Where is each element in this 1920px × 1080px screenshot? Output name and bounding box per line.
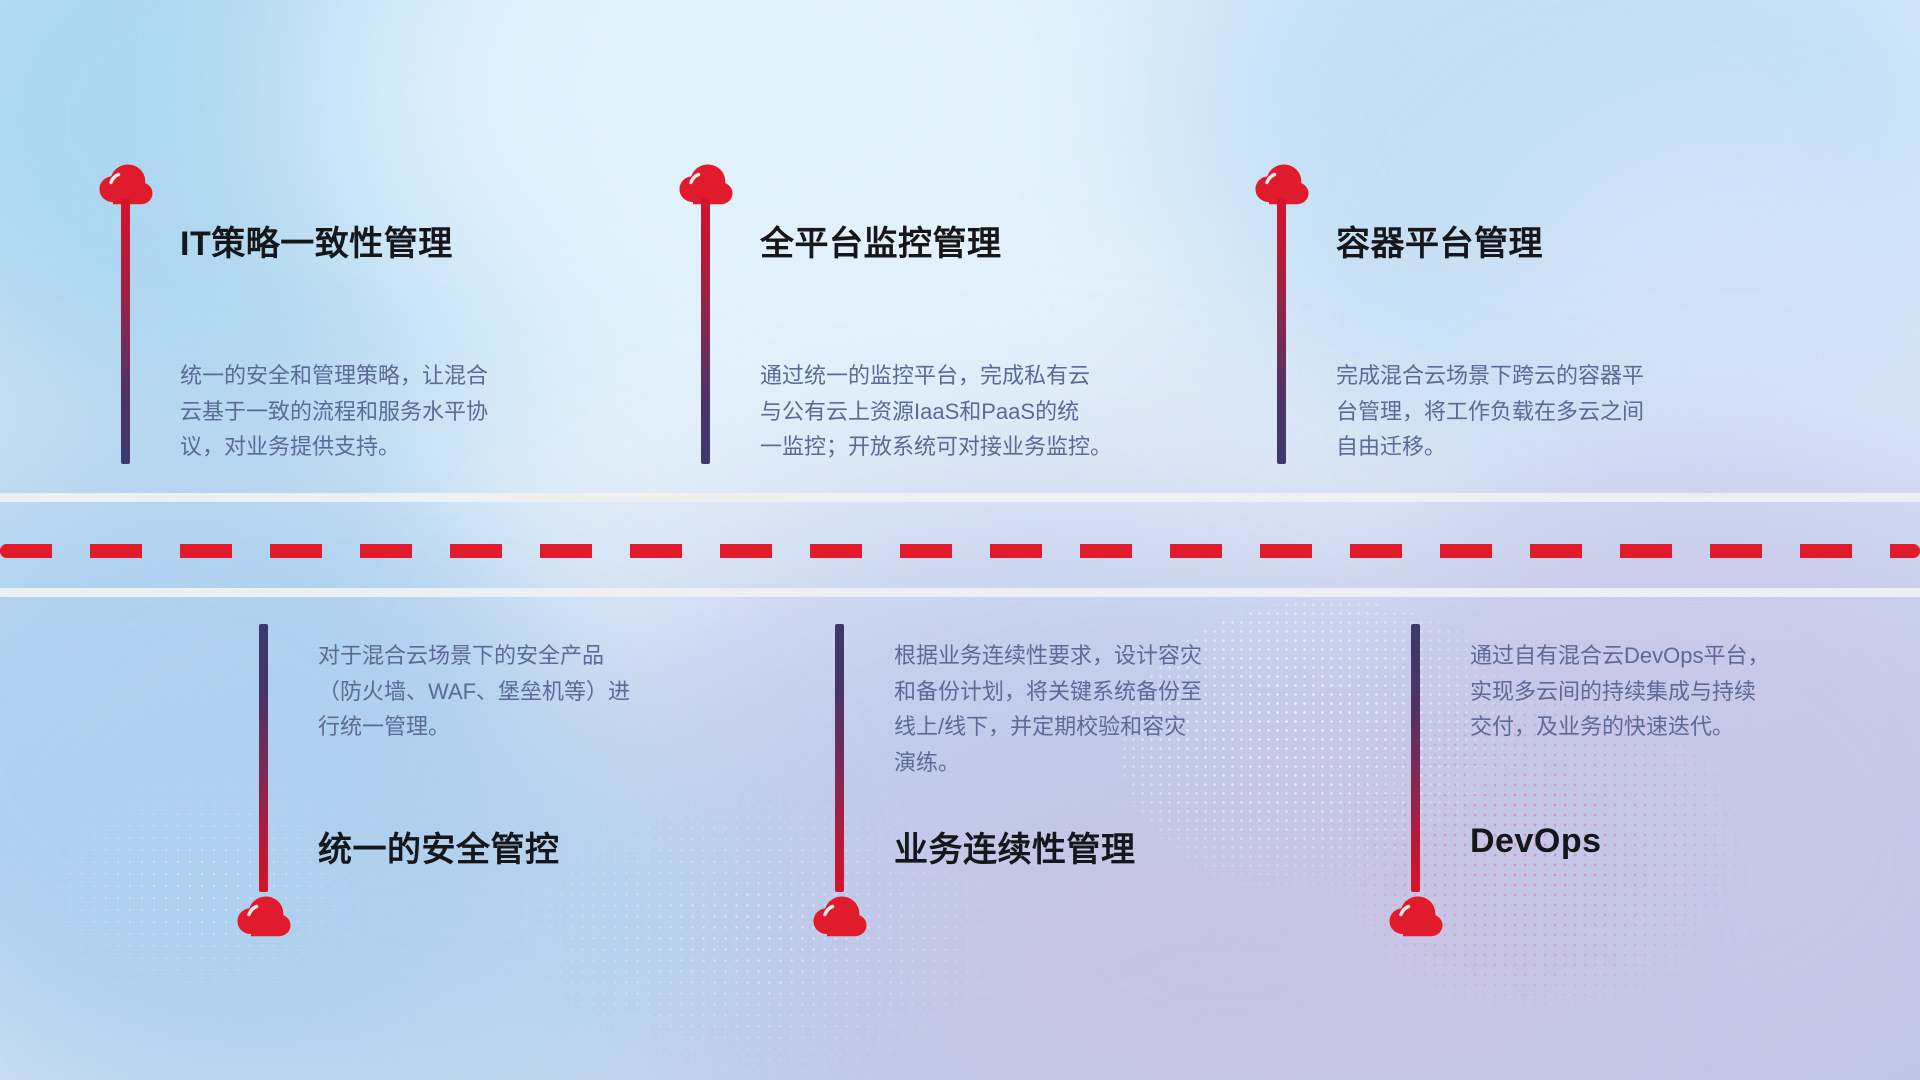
bottom-heading-3: DevOps — [1470, 822, 1602, 861]
infographic-canvas: IT策略一致性管理 统一的安全和管理策略，让混合 云基于一致的流程和服务水平协 … — [0, 0, 1920, 1080]
bottom-heading-1: 统一的安全管控 — [318, 822, 560, 871]
top-body-3: 完成混合云场景下跨云的容器平 台管理，将工作负载在多云之间 自由迁移。 — [1336, 358, 1766, 465]
top-heading-3: 容器平台管理 — [1336, 216, 1543, 265]
cloud-pin-icon — [1386, 892, 1446, 937]
connector-stem — [121, 198, 130, 464]
bottom-body-2: 根据业务连续性要求，设计容灾 和备份计划，将关键系统备份至 线上/线下，并定期校… — [894, 638, 1324, 781]
road-rail-bottom — [0, 588, 1920, 597]
cloud-pin-icon — [810, 892, 870, 937]
bottom-heading-2: 业务连续性管理 — [894, 822, 1136, 871]
bottom-body-1: 对于混合云场景下的安全产品 （防火墙、WAF、堡垒机等）进 行统一管理。 — [318, 638, 748, 745]
cloud-pin-icon — [234, 892, 294, 937]
road-rail-top — [0, 493, 1920, 502]
connector-stem — [1411, 624, 1420, 892]
bottom-body-3: 通过自有混合云DevOps平台， 实现多云间的持续集成与持续 交付，及业务的快速… — [1470, 638, 1900, 745]
connector-stem — [701, 198, 710, 464]
connector-stem — [835, 624, 844, 892]
top-body-2: 通过统一的监控平台，完成私有云 与公有云上资源IaaS和PaaS的统 一监控；开… — [760, 358, 1200, 465]
top-heading-1: IT策略一致性管理 — [180, 216, 453, 265]
connector-stem — [1277, 198, 1286, 464]
connector-stem — [259, 624, 268, 892]
top-body-1: 统一的安全和管理策略，让混合 云基于一致的流程和服务水平协 议，对业务提供支持。 — [180, 358, 600, 465]
top-heading-2: 全平台监控管理 — [760, 216, 1002, 265]
road-dashed-line — [0, 544, 1920, 558]
